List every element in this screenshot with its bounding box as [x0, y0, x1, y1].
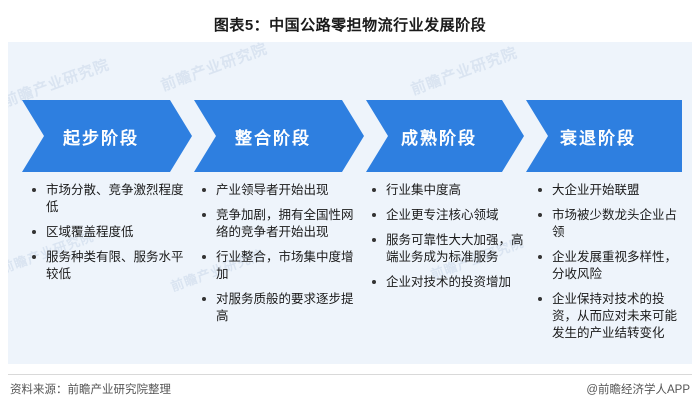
stage-column-2: 产业领导者开始出现 竞争加剧，拥有全国性网络的竞争者开始出现 行业整合，市场集中…	[200, 182, 362, 333]
stage-column-1: 市场分散、竞争激烈程度低 区域覆盖程度低 服务种类有限、服务水平较低	[30, 182, 190, 291]
list-item: 企业发展重视多样性，分收风险	[536, 249, 686, 283]
stage-bullet-columns: 市场分散、竞争激烈程度低 区域覆盖程度低 服务种类有限、服务水平较低 产业领导者…	[8, 182, 692, 362]
source-note: 资料来源：前瞻产业研究院整理	[10, 381, 171, 397]
credit-note: @前瞻经济学人APP	[586, 381, 690, 397]
stage-arrow-4[interactable]: 衰退阶段	[526, 100, 682, 172]
list-item: 竞争加剧，拥有全国性网络的竞争者开始出现	[200, 207, 362, 241]
stage-label-1: 起步阶段	[63, 124, 139, 149]
list-item: 区域覆盖程度低	[30, 224, 190, 241]
list-item: 企业更专注核心领域	[370, 207, 528, 224]
stage-column-4: 大企业开始联盟 市场被少数龙头企业占领 企业发展重视多样性，分收风险 企业保持对…	[536, 182, 686, 350]
stage-label-4: 衰退阶段	[560, 124, 636, 149]
list-item: 服务种类有限、服务水平较低	[30, 249, 190, 283]
footer-divider	[8, 374, 692, 375]
list-item: 对服务质般的要求逐步提高	[200, 291, 362, 325]
list-item: 大企业开始联盟	[536, 182, 686, 199]
list-item: 市场分散、竞争激烈程度低	[30, 182, 190, 216]
list-item: 行业整合，市场集中度增加	[200, 249, 362, 283]
stage-arrow-band: 起步阶段 整合阶段 成熟阶段 衰退阶段	[8, 100, 692, 172]
list-item: 企业保持对技术的投资，从而应对未来可能发生的产业结转变化	[536, 291, 686, 342]
list-item: 企业对技术的投资增加	[370, 274, 528, 291]
stage-arrow-1[interactable]: 起步阶段	[22, 100, 192, 172]
stage-arrow-3[interactable]: 成熟阶段	[366, 100, 524, 172]
stage-column-3: 行业集中度高 企业更专注核心领域 服务可靠性大大加强，高端业务成为标准服务 企业…	[370, 182, 528, 299]
list-item: 市场被少数龙头企业占领	[536, 207, 686, 241]
list-item: 产业领导者开始出现	[200, 182, 362, 199]
stage-label-3: 成熟阶段	[401, 124, 477, 149]
stage-label-2: 整合阶段	[235, 124, 311, 149]
stage-arrow-2[interactable]: 整合阶段	[194, 100, 364, 172]
diagram-panel: 前瞻产业研究院 前瞻产业研究院 前瞻产业研究院 前瞻产业研究院 前瞻产业研究院 …	[8, 42, 692, 364]
page-title: 图表5：中国公路零担物流行业发展阶段	[0, 14, 700, 35]
list-item: 行业集中度高	[370, 182, 528, 199]
watermark-3: 前瞻产业研究院	[408, 42, 520, 100]
list-item: 服务可靠性大大加强，高端业务成为标准服务	[370, 232, 528, 266]
watermark-2: 前瞻产业研究院	[158, 42, 270, 96]
